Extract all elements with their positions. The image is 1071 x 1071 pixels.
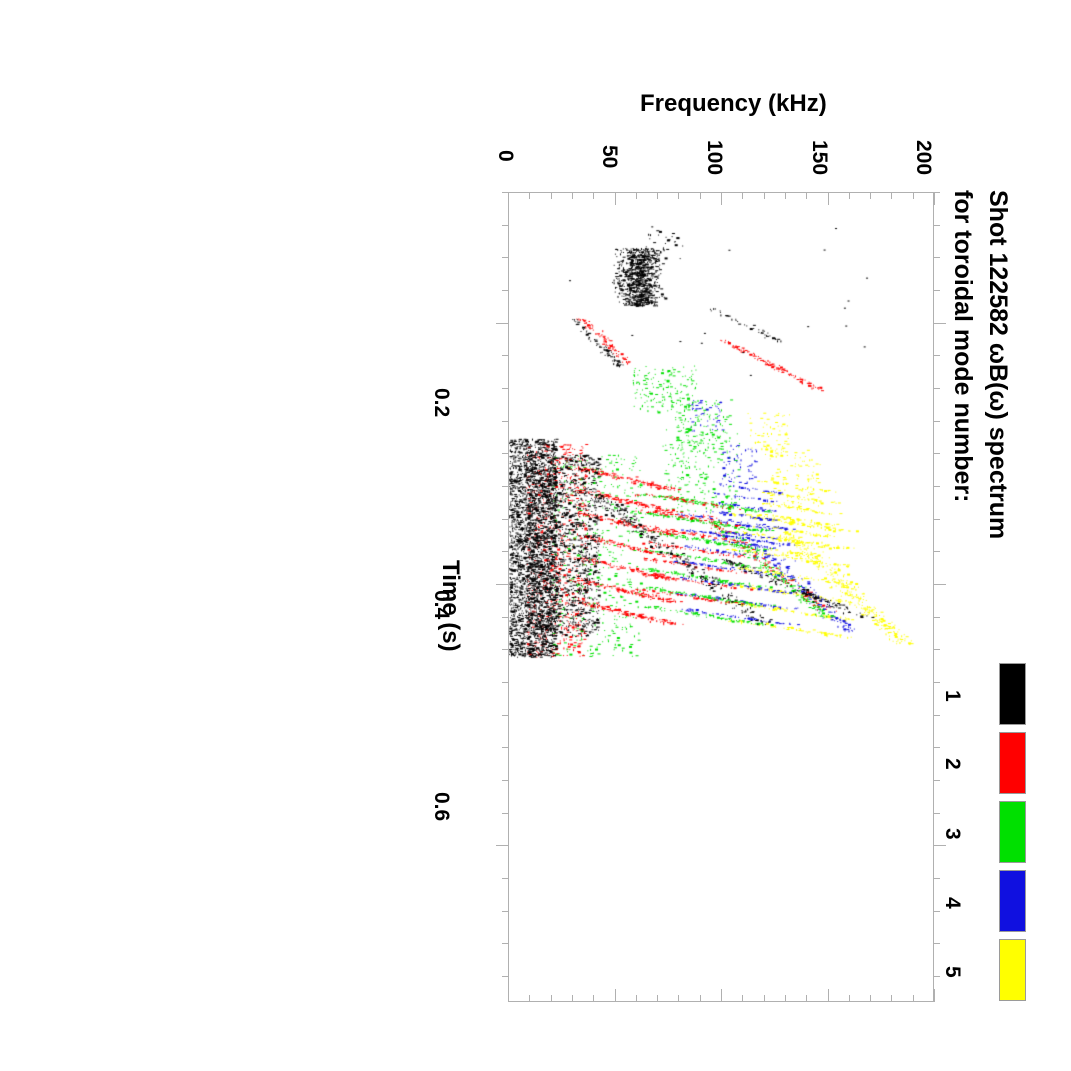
tick-mark: [502, 617, 509, 618]
tick-mark: [636, 995, 637, 1002]
tick-mark: [502, 486, 509, 487]
tick-mark: [551, 192, 552, 199]
tick-mark: [502, 519, 509, 520]
tick-mark: [529, 192, 530, 199]
legend-swatch-1: [999, 663, 1026, 725]
tick-mark: [502, 747, 509, 748]
legend-label-3: 3: [942, 828, 963, 840]
tick-mark: [572, 995, 573, 1002]
tick-mark: [933, 421, 940, 422]
x-tick-label-06: 0.6: [431, 792, 452, 821]
tick-mark: [933, 649, 940, 650]
tick-mark: [508, 192, 509, 205]
tick-mark: [933, 323, 946, 324]
tick-mark: [933, 747, 940, 748]
legend-label-2: 2: [942, 758, 963, 770]
tick-mark: [615, 989, 616, 1002]
x-tick-label-04: 0.4: [431, 590, 452, 619]
tick-mark: [933, 878, 940, 879]
tick-mark: [933, 715, 940, 716]
tick-mark: [502, 813, 509, 814]
tick-mark: [700, 192, 701, 199]
tick-mark: [496, 584, 509, 585]
tick-mark: [933, 192, 940, 193]
tick-mark: [502, 290, 509, 291]
y-tick-label-150: 150: [809, 140, 830, 175]
tick-mark: [933, 257, 940, 258]
legend-swatch-2: [999, 732, 1026, 794]
tick-mark: [828, 989, 829, 1002]
tick-mark: [496, 323, 509, 324]
tick-mark: [913, 995, 914, 1002]
tick-mark: [933, 355, 940, 356]
tick-mark: [933, 453, 940, 454]
tick-mark: [593, 192, 594, 199]
tick-mark: [934, 989, 935, 1002]
tick-mark: [502, 682, 509, 683]
tick-mark: [502, 976, 509, 977]
tick-mark: [700, 995, 701, 1002]
tick-mark: [933, 584, 946, 585]
tick-mark: [502, 649, 509, 650]
tick-mark: [502, 878, 509, 879]
tick-mark: [742, 995, 743, 1002]
tick-mark: [502, 388, 509, 389]
y-axis-title: Frequency (kHz): [640, 92, 827, 116]
tick-mark: [806, 995, 807, 1002]
tick-mark: [933, 682, 940, 683]
y-tick-label-50: 50: [599, 145, 620, 168]
figure-title-line1: Shot 122582 ωB(ω) spectrum: [985, 190, 1010, 539]
tick-mark: [933, 780, 940, 781]
spectrogram-canvas: [509, 193, 934, 1002]
legend-label-1: 1: [942, 690, 963, 702]
figure-root: Shot 122582 ωB(ω) spectrum for toroidal …: [0, 0, 1071, 1071]
tick-mark: [764, 995, 765, 1002]
tick-mark: [870, 192, 871, 199]
legend-swatch-5: [999, 939, 1026, 1001]
tick-mark: [721, 989, 722, 1002]
tick-mark: [933, 551, 940, 552]
tick-mark: [806, 192, 807, 199]
tick-mark: [502, 453, 509, 454]
tick-mark: [764, 192, 765, 199]
tick-mark: [615, 192, 616, 205]
tick-mark: [934, 192, 935, 205]
spectrogram-figure: Shot 122582 ωB(ω) spectrum for toroidal …: [0, 0, 1071, 1071]
tick-mark: [913, 192, 914, 199]
tick-mark: [502, 715, 509, 716]
tick-mark: [678, 995, 679, 1002]
tick-mark: [891, 192, 892, 199]
tick-mark: [657, 192, 658, 199]
tick-mark: [551, 995, 552, 1002]
legend-label-5: 5: [942, 966, 963, 978]
tick-mark: [678, 192, 679, 199]
plot-area: [508, 192, 934, 1002]
tick-mark: [572, 192, 573, 199]
legend-swatch-3: [999, 801, 1026, 863]
tick-mark: [502, 911, 509, 912]
tick-mark: [849, 192, 850, 199]
tick-mark: [785, 995, 786, 1002]
tick-mark: [933, 617, 940, 618]
tick-mark: [828, 192, 829, 205]
tick-mark: [502, 225, 509, 226]
tick-mark: [502, 257, 509, 258]
tick-mark: [529, 995, 530, 1002]
tick-mark: [657, 995, 658, 1002]
tick-mark: [849, 995, 850, 1002]
tick-mark: [933, 813, 940, 814]
tick-mark: [721, 192, 722, 205]
tick-mark: [508, 989, 509, 1002]
y-tick-label-200: 200: [913, 140, 934, 175]
tick-mark: [496, 845, 509, 846]
tick-mark: [933, 911, 940, 912]
tick-mark: [933, 943, 940, 944]
tick-mark: [502, 421, 509, 422]
tick-mark: [933, 519, 940, 520]
tick-mark: [933, 225, 940, 226]
x-tick-label-02: 0.2: [431, 388, 452, 417]
tick-mark: [636, 192, 637, 199]
tick-mark: [785, 192, 786, 199]
tick-mark: [502, 192, 509, 193]
tick-mark: [502, 355, 509, 356]
tick-mark: [933, 845, 946, 846]
tick-mark: [933, 290, 940, 291]
legend-swatch-4: [999, 870, 1026, 932]
tick-mark: [502, 551, 509, 552]
tick-mark: [502, 943, 509, 944]
y-tick-label-100: 100: [704, 140, 725, 175]
tick-mark: [933, 486, 940, 487]
tick-mark: [933, 976, 940, 977]
figure-title-line2: for toroidal mode number:: [950, 190, 975, 503]
tick-mark: [933, 388, 940, 389]
tick-mark: [870, 995, 871, 1002]
legend-label-4: 4: [942, 897, 963, 909]
tick-mark: [742, 192, 743, 199]
tick-mark: [891, 995, 892, 1002]
tick-mark: [593, 995, 594, 1002]
tick-mark: [502, 780, 509, 781]
y-tick-label-0: 0: [495, 150, 516, 162]
